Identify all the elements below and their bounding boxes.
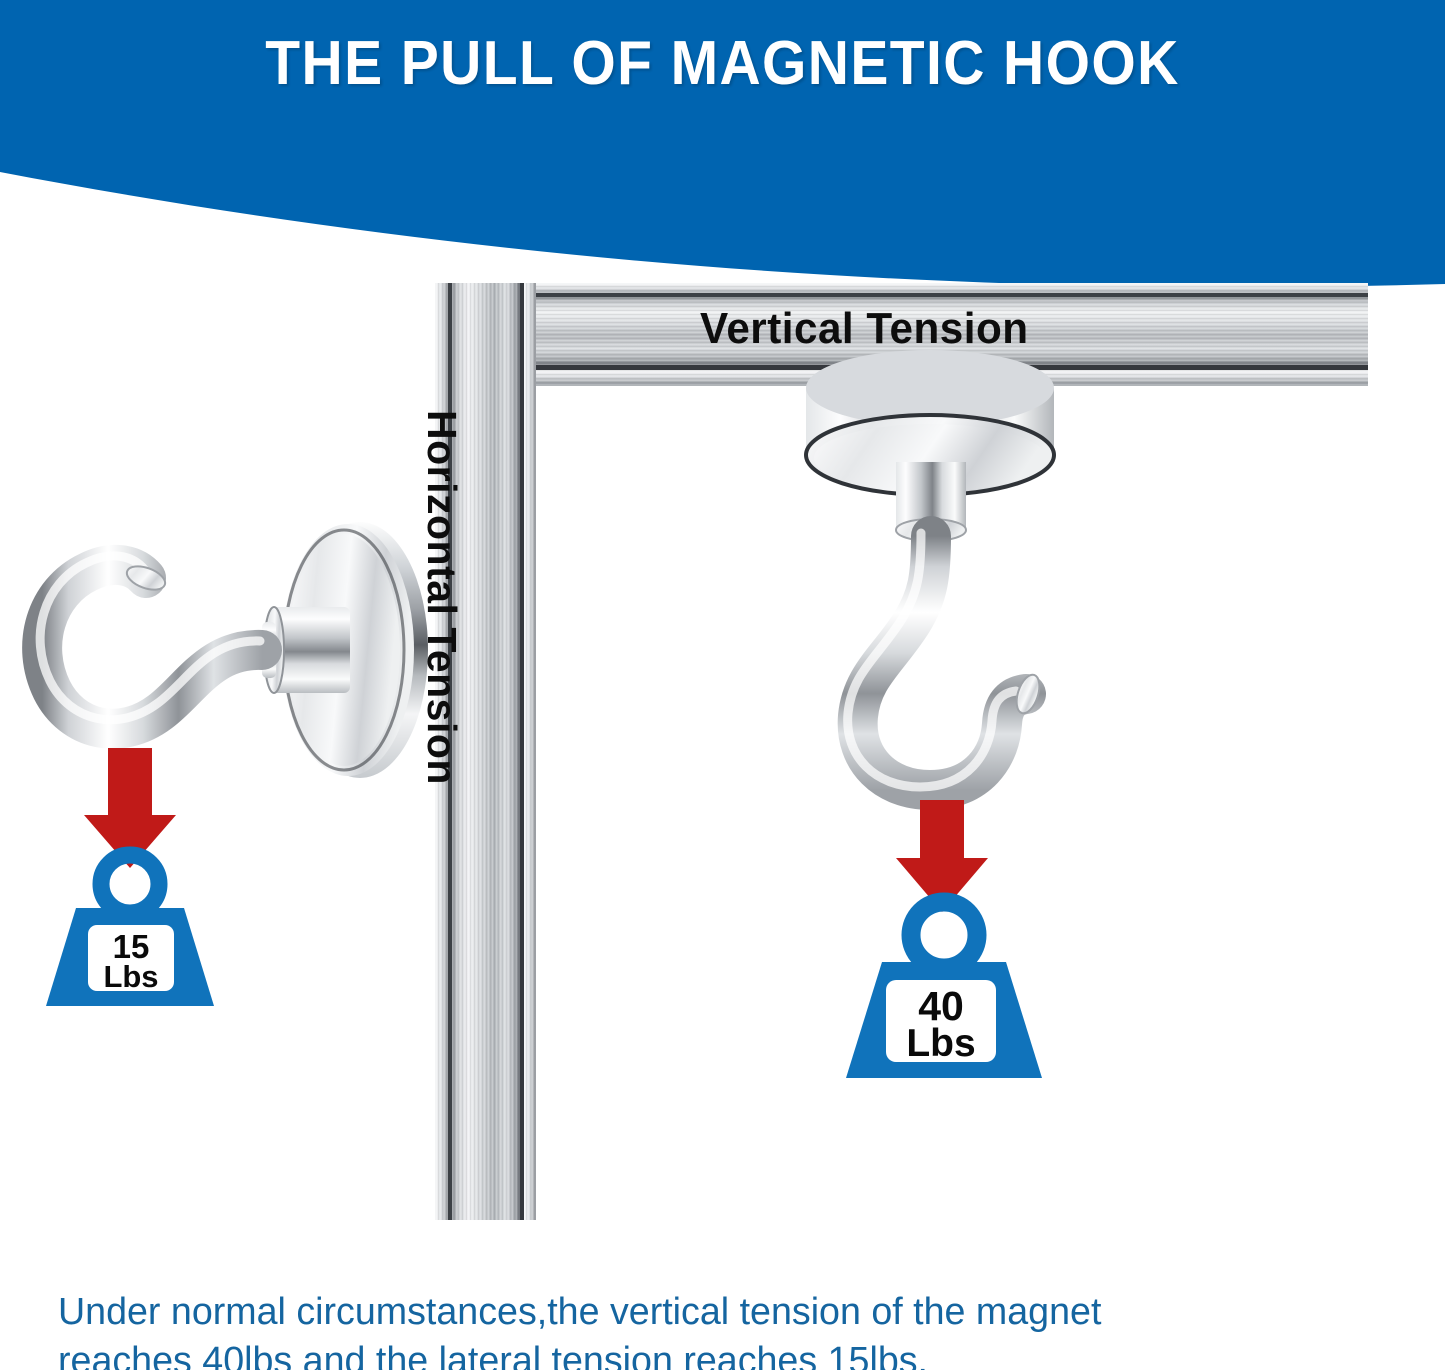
vertical-tension-label: Vertical Tension — [700, 304, 1029, 354]
infographic-page: THE PULL OF MAGNETIC HOOK — [0, 0, 1445, 1370]
weight-unit-40: Lbs — [906, 1022, 975, 1065]
weight-icon-40: 40 Lbs — [846, 902, 1042, 1078]
weight-icon-15: 15 Lbs — [46, 855, 214, 1006]
footer-caption-line-2: reaches 40lbs and the lateral tension re… — [58, 1337, 1375, 1370]
horizontal-tension-label: Horizontal Tension — [418, 410, 465, 785]
magnet-hook-ceiling-icon — [806, 350, 1054, 790]
illustration-stage: 15 Lbs — [0, 0, 1445, 1270]
footer-caption: Under normal circumstances,the vertical … — [58, 1288, 1375, 1370]
magnet-hook-side-icon — [40, 522, 428, 778]
footer-caption-line-1: Under normal circumstances,the vertical … — [58, 1288, 1375, 1337]
weight-unit-15: Lbs — [103, 959, 158, 994]
